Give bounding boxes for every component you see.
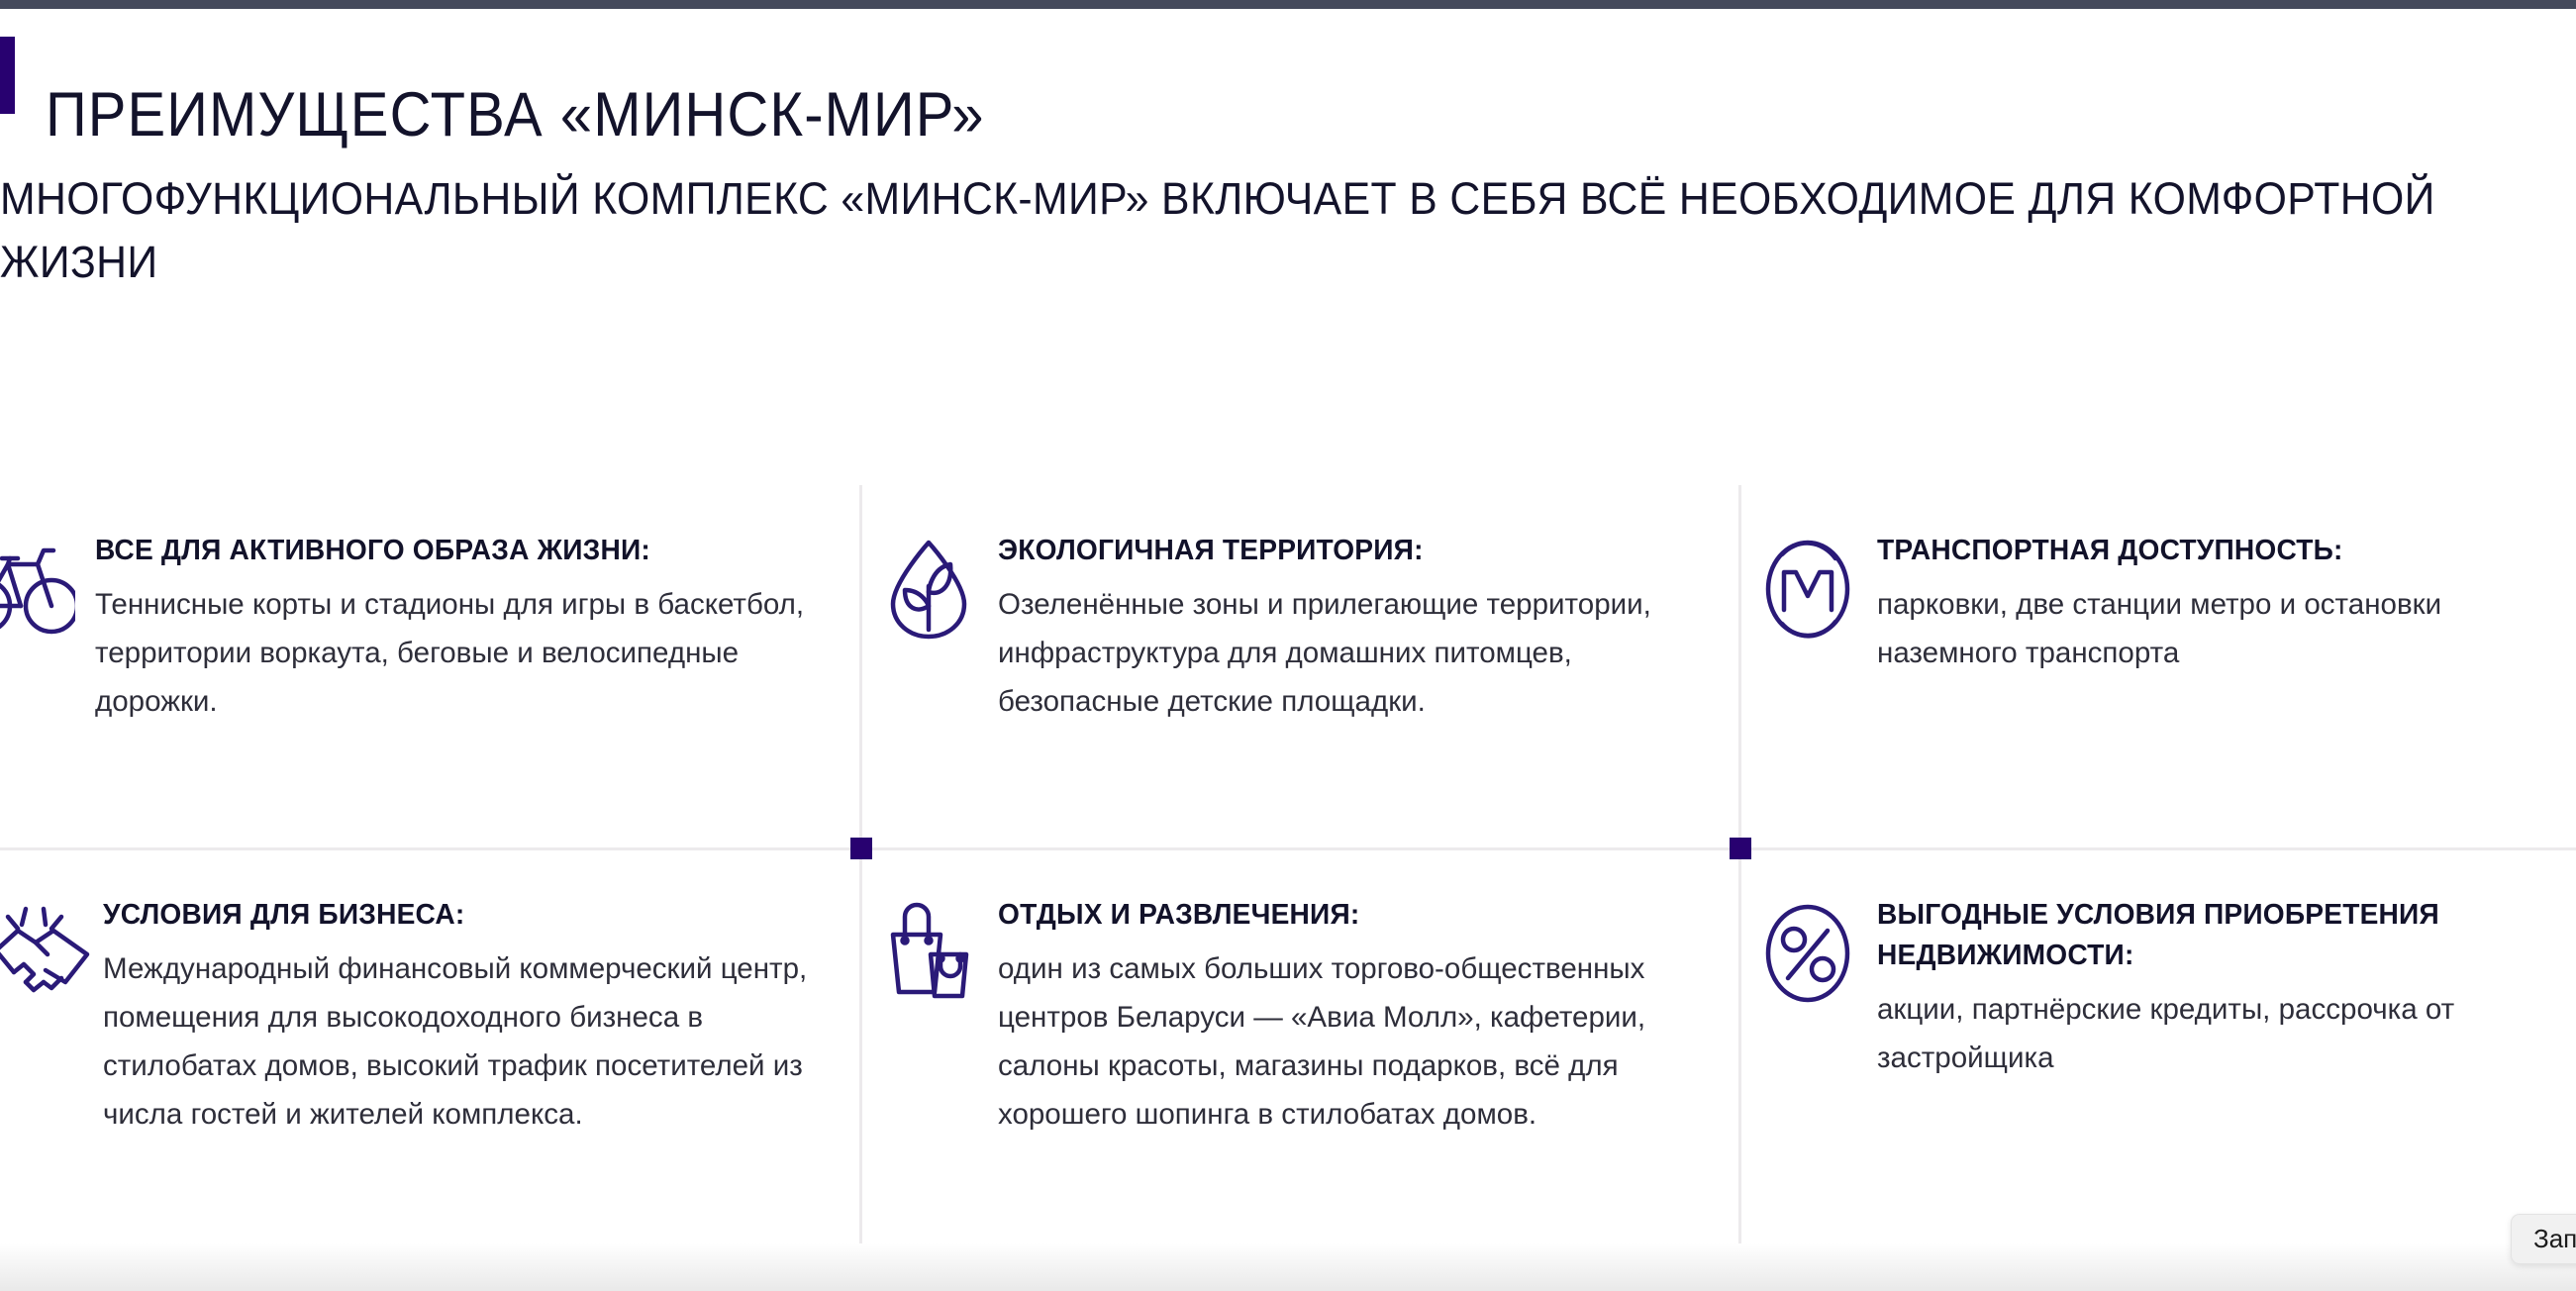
floating-widget-label: Зап (2533, 1224, 2576, 1254)
bicycle-icon (0, 535, 75, 644)
floating-widget-button[interactable]: Зап (2511, 1214, 2576, 1264)
page-title: ПРЕИМУЩЕСТВА «МИНСК-МИР» (46, 71, 985, 158)
advantage-card-active-lifestyle: ВСЕ ДЛЯ АКТИВНОГО ОБРАЗА ЖИЗНИ: Теннисны… (0, 531, 822, 726)
divider-node-marker-2 (1730, 838, 1751, 859)
card-text: Озеленённые зоны и прилегающие территори… (998, 580, 1690, 726)
card-title: УСЛОВИЯ ДЛЯ БИЗНЕСА: (103, 895, 800, 936)
bottom-gradient-strip (0, 1243, 2576, 1291)
advantage-card-business: УСЛОВИЯ ДЛЯ БИЗНЕСА: Международный финан… (0, 895, 822, 1139)
advantage-card-transport: ТРАНСПОРТНАЯ ДОСТУПНОСТЬ: парковки, две … (1758, 531, 2560, 677)
eco-leaf-drop-icon (879, 535, 988, 644)
page-canvas: ПРЕИМУЩЕСТВА «МИНСК-МИР» МНОГОФУНКЦИОНАЛ… (0, 9, 2576, 1291)
advantage-card-eco-territory: ЭКОЛОГИЧНАЯ ТЕРРИТОРИЯ: Озеленённые зоны… (879, 531, 1701, 726)
metro-icon (1758, 535, 1867, 644)
advantage-card-purchase-terms: ВЫГОДНЫЕ УСЛОВИЯ ПРИОБРЕТЕНИЯ НЕДВИЖИМОС… (1758, 895, 2560, 1082)
card-text: парковки, две станции метро и остановки … (1877, 580, 2550, 677)
card-title: ОТДЫХ И РАЗВЛЕЧЕНИЯ: (998, 895, 1680, 936)
browser-chrome-strip (0, 0, 2576, 9)
card-body: ВЫГОДНЫЕ УСЛОВИЯ ПРИОБРЕТЕНИЯ НЕДВИЖИМОС… (1867, 895, 2560, 1082)
title-accent-bar (0, 37, 15, 114)
card-title: ВСЕ ДЛЯ АКТИВНОГО ОБРАЗА ЖИЗНИ: (95, 531, 800, 571)
card-title: ТРАНСПОРТНАЯ ДОСТУПНОСТЬ: (1877, 531, 2539, 571)
card-body: ТРАНСПОРТНАЯ ДОСТУПНОСТЬ: парковки, две … (1867, 531, 2560, 677)
divider-node-marker-1 (850, 838, 872, 859)
advantage-card-leisure: ОТДЫХ И РАЗВЛЕЧЕНИЯ: один из самых больш… (879, 895, 1701, 1139)
card-body: ВСЕ ДЛЯ АКТИВНОГО ОБРАЗА ЖИЗНИ: Теннисны… (75, 531, 822, 726)
card-text: акции, партнёрские кредиты, рассрочка от… (1877, 985, 2550, 1082)
card-text: Теннисные корты и стадионы для игры в ба… (95, 580, 811, 726)
card-text: один из самых больших торгово-общественн… (998, 944, 1690, 1139)
card-body: УСЛОВИЯ ДЛЯ БИЗНЕСА: Международный финан… (97, 895, 822, 1139)
handshake-icon (0, 899, 97, 1008)
card-body: ЭКОЛОГИЧНАЯ ТЕРРИТОРИЯ: Озеленённые зоны… (988, 531, 1701, 726)
shopping-bags-icon (879, 899, 988, 1008)
page-subtitle: МНОГОФУНКЦИОНАЛЬНЫЙ КОМПЛЕКС «МИНСК-МИР»… (0, 167, 2447, 294)
vertical-divider-2 (1738, 485, 1741, 1272)
percent-icon (1758, 899, 1867, 1008)
horizontal-divider (0, 847, 2576, 850)
advantages-grid: ВСЕ ДЛЯ АКТИВНОГО ОБРАЗА ЖИЗНИ: Теннисны… (0, 485, 2576, 1272)
page-title-block: ПРЕИМУЩЕСТВА «МИНСК-МИР» (0, 30, 2534, 119)
card-title: ВЫГОДНЫЕ УСЛОВИЯ ПРИОБРЕТЕНИЯ НЕДВИЖИМОС… (1877, 895, 2539, 976)
card-body: ОТДЫХ И РАЗВЛЕЧЕНИЯ: один из самых больш… (988, 895, 1701, 1139)
card-title: ЭКОЛОГИЧНАЯ ТЕРРИТОРИЯ: (998, 531, 1680, 571)
card-text: Международный финансовый коммерческий це… (103, 944, 811, 1139)
vertical-divider-1 (859, 485, 862, 1272)
